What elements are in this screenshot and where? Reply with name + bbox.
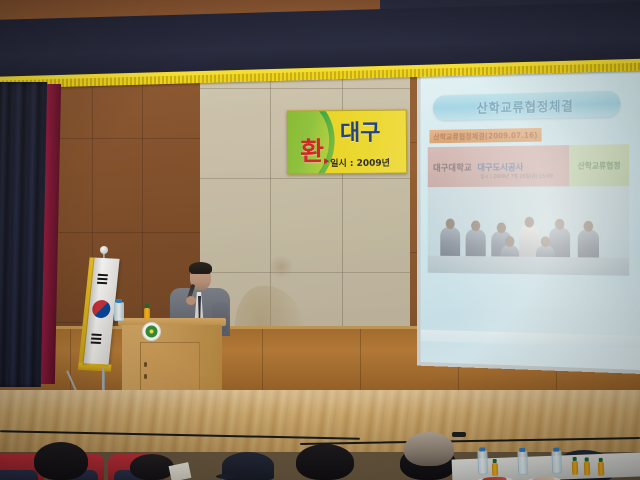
audience-person-head <box>34 442 88 480</box>
flag-finial-icon <box>100 246 108 254</box>
banner-welcome-char: 환 <box>300 131 324 168</box>
juice-bottle <box>598 462 605 476</box>
photo-green-label-box: 산학교류협정 <box>569 144 629 186</box>
podium-water-bottle <box>114 302 124 321</box>
speaker-glasses-icon <box>191 273 210 278</box>
juice-bottle <box>572 461 579 475</box>
speaker-hand <box>186 296 196 305</box>
play-arrow-icon <box>324 158 329 164</box>
podium-juice-bottle <box>144 308 150 319</box>
audience-paper <box>169 462 192 480</box>
slide-caption-text: 산학교류협정체결(2009.07.16) <box>433 129 537 141</box>
photo-ceremony-banner: 대구대학교 대구도시공사 산학교류협정 일시 | 2009년 7월 16일(금)… <box>428 144 629 187</box>
water-bottle <box>517 451 528 475</box>
auditorium-presentation-photo: 산학교류협정체결 산학교류협정체결(2009.07.16) 대구대학교 대구도시… <box>0 0 640 480</box>
plate-food <box>482 477 506 480</box>
audience-person-cap <box>222 452 274 480</box>
slide-title-text: 산학교류협정체결 <box>477 95 574 116</box>
audience-person-head <box>296 444 354 480</box>
slide-caption-bar: 산학교류협정체결(2009.07.16) <box>430 128 542 143</box>
navy-stage-curtain <box>0 82 47 387</box>
juice-bottle <box>584 461 591 475</box>
banner-city-char: 대구 <box>340 115 381 147</box>
slide-title-bar: 산학교류협정체결 <box>433 91 620 121</box>
projection-screen: 산학교류협정체결 산학교류협정체결(2009.07.16) 대구대학교 대구도시… <box>417 44 640 374</box>
welcome-banner: 환 대구 일시 : 2009년 <box>287 109 408 174</box>
photo-date-text: 일시 | 2009년 7월 16일(금) 15:00 <box>480 173 553 180</box>
screen-bottom-band <box>421 330 640 348</box>
banner-date-text: 일시 : 2009년 <box>330 156 390 170</box>
podium-emblem-icon <box>142 322 161 341</box>
photo-green-label-text: 산학교류협정 <box>578 160 621 171</box>
water-bottle <box>477 450 488 474</box>
audience-person-head <box>404 432 454 466</box>
audience-person-head <box>130 454 174 480</box>
projected-slide: 산학교류협정체결 산학교류협정체결(2009.07.16) 대구대학교 대구도시… <box>421 48 640 370</box>
refreshment-table <box>452 452 640 480</box>
podium-latch-icon <box>144 374 147 379</box>
juice-bottle <box>492 463 498 476</box>
podium-keyhole-icon <box>144 362 147 367</box>
photo-org-left-label: 대구대학교 <box>433 160 472 173</box>
photo-org-right-label: 대구도시공사 <box>477 160 523 173</box>
water-bottle <box>551 450 562 473</box>
slide-photo: 대구대학교 대구도시공사 산학교류협정 일시 | 2009년 7월 16일(금)… <box>428 144 629 276</box>
photo-floor <box>428 256 629 276</box>
wall-spot-stain <box>268 255 294 279</box>
